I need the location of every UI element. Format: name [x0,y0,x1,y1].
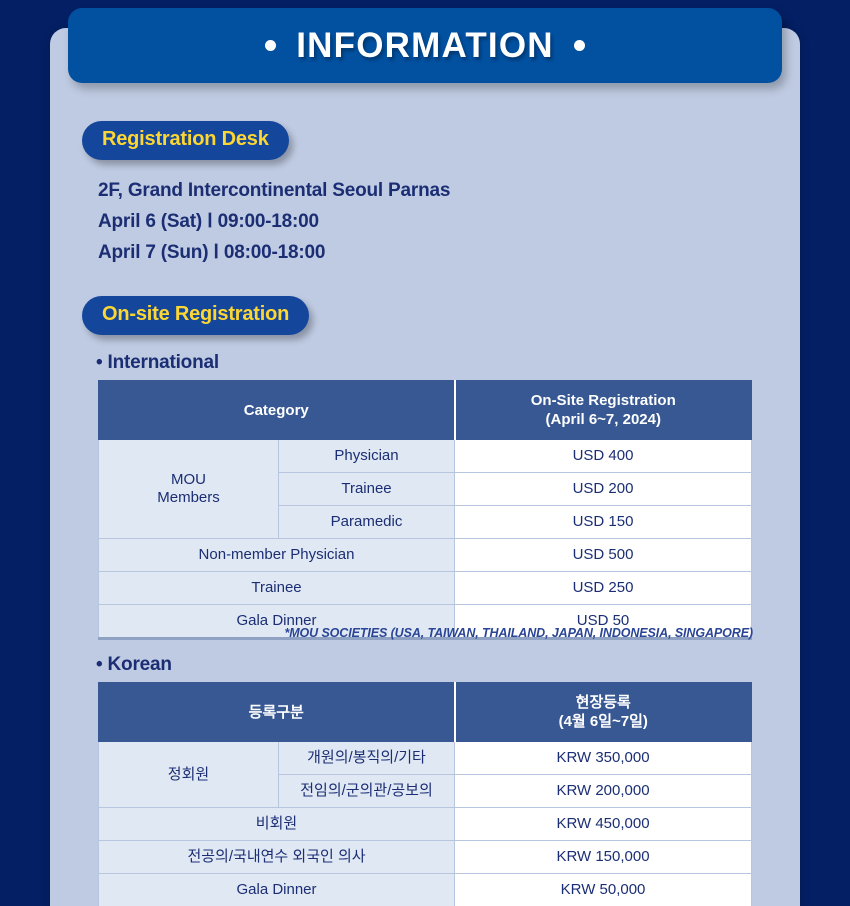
column-header-price-line2: (April 6~7, 2024) [460,410,748,429]
row-price: USD 400 [455,440,752,473]
row-group-label-line2: Members [103,489,274,507]
row-category: Gala Dinner [99,874,455,906]
row-price: USD 250 [455,572,752,605]
row-category: Trainee [99,572,455,605]
row-price: USD 500 [455,539,752,572]
row-price: USD 200 [455,473,752,506]
page-background: INFORMATION Registration Desk 2F, Grand … [0,0,850,906]
row-category: Non-member Physician [99,539,455,572]
table-row: 정회원 개원의/봉직의/기타 KRW 350,000 [99,742,752,775]
column-header-price-line2: (4월 6일~7일) [460,712,748,731]
column-header-price-line1: On-Site Registration [460,391,748,410]
row-category: 개원의/봉직의/기타 [279,742,455,775]
column-header-category: Category [99,381,455,440]
table-row: Trainee USD 250 [99,572,752,605]
row-price: KRW 50,000 [455,874,752,906]
international-fee-table: Category On-Site Registration (April 6~7… [98,380,752,640]
registration-desk-day2: April 7 (Sun) Ⅰ 08:00-18:00 [98,237,450,268]
registration-desk-pill-wrap: Registration Desk [82,121,289,160]
registration-desk-venue: 2F, Grand Intercontinental Seoul Parnas [98,175,450,206]
korean-fee-table: 등록구분 현장등록 (4월 6일~7일) 정회원 개원의/봉직의/기타 KRW … [98,682,752,906]
table-row: 비회원 KRW 450,000 [99,808,752,841]
registration-desk-pill: Registration Desk [82,121,289,160]
table-row: MOU Members Physician USD 400 [99,440,752,473]
row-category: Physician [279,440,455,473]
table-header-row: Category On-Site Registration (April 6~7… [99,381,752,440]
row-group-label-line1: MOU [103,471,274,489]
onsite-registration-pill-wrap: On-site Registration [82,296,309,335]
row-category: 전공의/국내연수 외국인 의사 [99,841,455,874]
table-row: Gala Dinner KRW 50,000 [99,874,752,906]
table-row: Non-member Physician USD 500 [99,539,752,572]
row-price: KRW 200,000 [455,775,752,808]
table-row: 전공의/국내연수 외국인 의사 KRW 150,000 [99,841,752,874]
korean-section-label: • Korean [96,654,172,676]
row-group-label-mou: MOU Members [99,440,279,539]
table-header-row: 등록구분 현장등록 (4월 6일~7일) [99,683,752,742]
international-section-label: • International [96,352,219,374]
card-content: Registration Desk 2F, Grand Intercontine… [50,28,800,906]
mou-societies-note: *MOU SOCIETIES (USA, TAIWAN, THAILAND, J… [50,626,753,640]
column-header-category: 등록구분 [99,683,455,742]
onsite-registration-pill: On-site Registration [82,296,309,335]
row-price: KRW 350,000 [455,742,752,775]
column-header-price-line1: 현장등록 [460,693,748,712]
row-group-label-regular-member: 정회원 [99,742,279,808]
row-price: KRW 450,000 [455,808,752,841]
row-category: 전임의/군의관/공보의 [279,775,455,808]
row-category: Paramedic [279,506,455,539]
row-price: USD 150 [455,506,752,539]
row-category: 비회원 [99,808,455,841]
registration-desk-details: 2F, Grand Intercontinental Seoul Parnas … [98,175,450,268]
row-price: KRW 150,000 [455,841,752,874]
column-header-price: On-Site Registration (April 6~7, 2024) [455,381,752,440]
column-header-price: 현장등록 (4월 6일~7일) [455,683,752,742]
row-category: Trainee [279,473,455,506]
registration-desk-day1: April 6 (Sat) Ⅰ 09:00-18:00 [98,206,450,237]
